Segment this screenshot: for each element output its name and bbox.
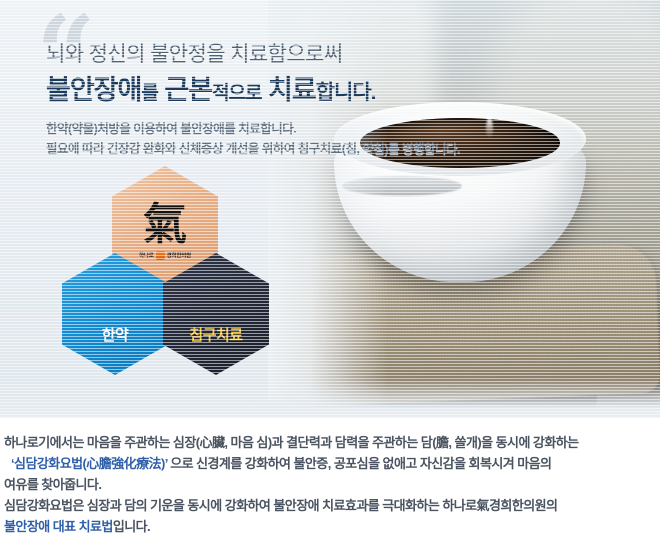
headline-ending: 합니다. <box>316 81 376 104</box>
headline-line-2: 불안장애를 근본적으로 치료합니다. <box>46 68 376 107</box>
description-line-4: 심담강화요법은 심장과 담의 기운을 동시에 강화하여 불안장애 치료효과를 극… <box>4 495 654 516</box>
subtext-line-2: 필요에 따라 긴장감 완화와 신체증상 개선을 위하여 침구치료(침, 약침)를… <box>46 138 460 157</box>
qi-character: 氣 <box>143 203 187 247</box>
description-line-5-rest: 입니다. <box>113 519 150 534</box>
clinic-logo-left: 하나로 <box>139 251 154 259</box>
headline-keyword-root: 근본 <box>164 75 212 105</box>
description-line-1: 하나로기에서는 마음을 주관하는 심장(心臟, 마음 심)과 결단력과 담력을 … <box>4 432 654 453</box>
clinic-logo: 하나로 경희한의원 <box>139 251 191 260</box>
clinic-logo-right: 경희한의원 <box>167 251 191 259</box>
description-line-5: 불안장애 대표 치료법입니다. <box>4 516 654 537</box>
subtext-line-1: 한약(약물)처방을 이용하여 불안장애를 치료합니다. <box>46 118 296 137</box>
hero-banner: “ 뇌와 정신의 불안정을 치료함으로써 불안장애를 근본적으로 치료합니다. … <box>0 0 660 418</box>
representative-treatment-highlight: 불안장애 대표 치료법 <box>4 519 113 534</box>
headline-keyword-treat: 치료 <box>268 75 316 105</box>
headline-keyword-disorder: 불안장애 <box>46 75 141 105</box>
description-line-2: ‘심담강화요법(心膽強化療法)’ 으로 신경계를 강화하여 불안증, 공포심을 … <box>4 453 654 474</box>
headline-particle-1: 를 <box>141 83 157 104</box>
therapy-name-highlight: ‘심담강화요법(心膽強化療法)’ <box>4 456 167 471</box>
bowl-highlight <box>486 118 493 138</box>
description-line-3: 여유를 찾아줍니다. <box>4 474 654 495</box>
description-block: 하나로기에서는 마음을 주관하는 심장(心臟, 마음 심)과 결단력과 담력을 … <box>0 424 660 537</box>
description-line-2-rest: 으로 신경계를 강화하여 불안증, 공포심을 없애고 자신감을 회복시겨 마음의 <box>170 456 551 471</box>
promo-banner-page: “ 뇌와 정신의 불안정을 치료함으로써 불안장애를 근본적으로 치료합니다. … <box>0 0 660 550</box>
hexagon-label-acupuncture: 침구치료 <box>189 324 242 375</box>
hexagon-label-herbal-medicine: 한약 <box>102 324 129 375</box>
clinic-logo-mark-icon <box>156 251 165 260</box>
headline-particle-2: 적으로 <box>212 83 261 104</box>
headline-line-1: 뇌와 정신의 불안정을 치료함으로써 <box>46 38 343 68</box>
